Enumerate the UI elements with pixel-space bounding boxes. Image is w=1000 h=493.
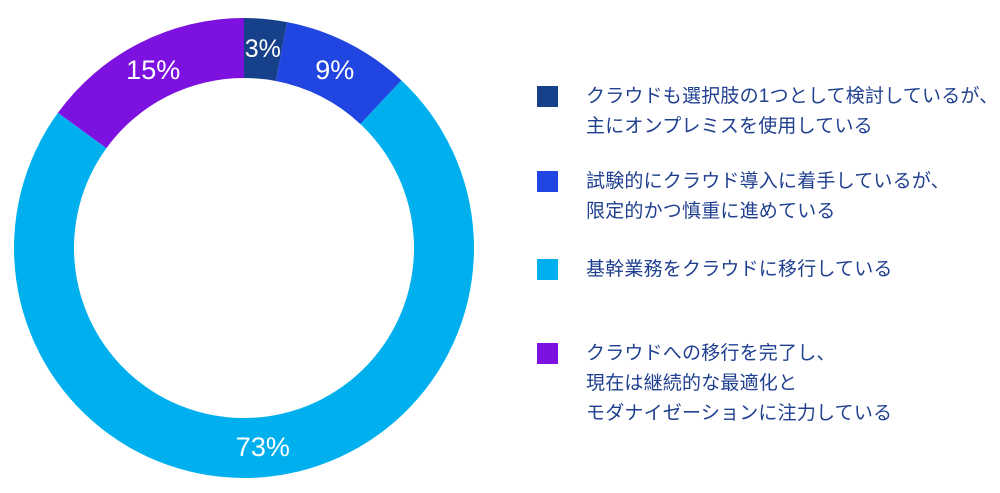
legend-item-pilot-adoption[interactable]: 試験的にクラウド導入に着手しているが、 限定的かつ慎重に進めている [537,167,950,227]
legend-label-on-premises-primary: クラウドも選択肢の1つとして検討しているが、 主にオンプレミスを使用している [586,82,998,142]
legend-swatch-royal-blue [537,171,558,192]
donut-chart-page: 3%9%73%15% クラウドも選択肢の1つとして検討しているが、 主にオンプレ… [0,0,1000,493]
chart-legend: クラウドも選択肢の1つとして検討しているが、 主にオンプレミスを使用している 試… [537,0,1000,493]
donut-slice-label-2: 73% [236,432,290,462]
legend-swatch-purple [537,343,558,364]
legend-label-core-workload-migration: 基幹業務をクラウドに移行している [586,255,893,285]
donut-slice-label-3: 15% [126,55,180,85]
donut-slices [14,18,474,478]
donut-chart: 3%9%73%15% [0,0,500,493]
donut-slice-2[interactable] [14,80,474,478]
donut-slice-label-1: 9% [315,55,354,85]
legend-swatch-cyan [537,259,558,280]
legend-label-migration-complete: クラウドへの移行を完了し、 現在は継続的な最適化と モダナイゼーションに注力して… [586,339,892,429]
legend-item-core-workload-migration[interactable]: 基幹業務をクラウドに移行している [537,255,893,285]
legend-item-on-premises-primary[interactable]: クラウドも選択肢の1つとして検討しているが、 主にオンプレミスを使用している [537,82,998,142]
legend-label-pilot-adoption: 試験的にクラウド導入に着手しているが、 限定的かつ慎重に進めている [586,167,950,227]
legend-swatch-navy [537,86,558,107]
donut-slice-label-0: 3% [245,35,281,63]
legend-item-migration-complete[interactable]: クラウドへの移行を完了し、 現在は継続的な最適化と モダナイゼーションに注力して… [537,339,892,429]
donut-chart-svg: 3%9%73%15% [0,0,500,493]
